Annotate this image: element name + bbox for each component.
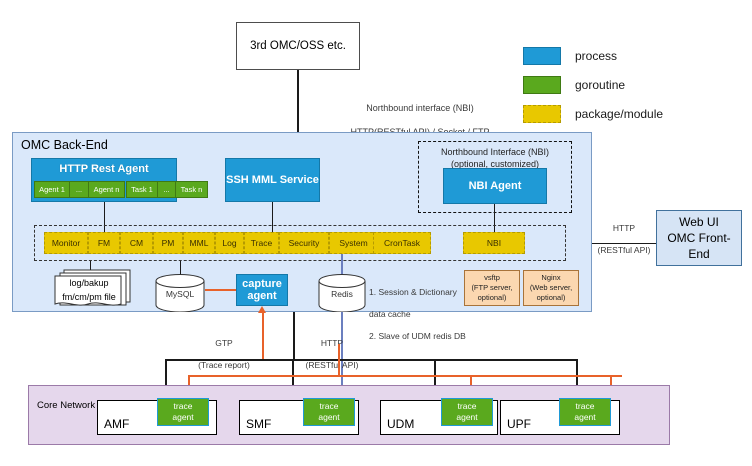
goroutine-task-1: Task 1 (127, 182, 158, 197)
goroutine-task-n: Task n (176, 182, 207, 197)
legend: process goroutine package/module (523, 45, 733, 117)
file-store-line1: log/bakup (46, 276, 132, 290)
nginx-line3: optional) (537, 293, 566, 303)
module-security: Security (279, 232, 329, 254)
module-mml: MML (183, 232, 215, 254)
web-ui-line1: Web UI (679, 214, 719, 230)
module-monitor: Monitor (44, 232, 88, 254)
module-trace: Trace (244, 232, 279, 254)
ssh-mml-service-label: SSH MML Service (226, 174, 319, 186)
gtp-link-label: GTP (Trace report) (190, 327, 258, 382)
trace-agent-amf: trace agent (157, 398, 209, 426)
nbi-agent-process: NBI Agent (443, 168, 547, 204)
http-line2: (RESTful API) (296, 360, 368, 371)
trace-agent-smf: trace agent (303, 398, 355, 426)
legend-swatch-process (523, 47, 561, 65)
trace-agent-smf-line2: agent (318, 412, 339, 423)
mysql-to-capture-agent-connector (205, 289, 236, 291)
modules-group-core: Monitor FM CM PM MML Log Trace Security … (44, 232, 378, 254)
file-store-stack: log/bakup fm/cm/pm file (52, 266, 138, 312)
module-system: System (329, 232, 378, 254)
web-ui-line2: OMC Front-End (657, 230, 741, 262)
capture-agent-inbound-arrow (258, 306, 266, 313)
mysql-label: MySQL (155, 289, 205, 299)
redis-note-line3: 2. Slave of UDM redis DB (369, 331, 489, 342)
oss-to-backend-connector (297, 70, 299, 132)
module-cm: CM (120, 232, 153, 254)
http-trunk-vertical (293, 312, 295, 359)
legend-swatch-module (523, 105, 561, 123)
http-rest-agent-task-group: Task 1 ... Task n (126, 181, 208, 198)
legend-label-module: package/module (575, 107, 663, 121)
gtp-line1: GTP (190, 338, 258, 349)
core-network-title: Core Network (37, 400, 95, 411)
nf-label-smf: SMF (246, 417, 271, 431)
gtp-line2: (Trace report) (190, 360, 258, 371)
architecture-diagram: 3rd OMC/OSS etc. Northbound interface (N… (0, 0, 752, 466)
trace-agent-upf-line1: trace (576, 401, 595, 412)
module-pm: PM (153, 232, 183, 254)
trace-agent-udm-line1: trace (458, 401, 477, 412)
gtp-drop-smf (338, 344, 340, 375)
module-crontask: CronTask (373, 232, 431, 254)
http-link-label: HTTP (RESTful API) (296, 327, 368, 382)
nf-label-upf: UPF (507, 417, 531, 431)
goroutine-agent-1: Agent 1 (35, 182, 70, 197)
vsftp-line2: (FTP server, (471, 283, 512, 293)
module-nbi: NBI (463, 232, 525, 254)
trace-agent-upf: trace agent (559, 398, 611, 426)
file-store-line2: fm/cm/pm file (46, 290, 132, 304)
trace-agent-amf-line2: agent (172, 412, 193, 423)
modules-to-redis-connector (341, 254, 343, 276)
third-party-omc-oss-box: 3rd OMC/OSS etc. (236, 22, 360, 70)
nbi-agent-label: NBI Agent (469, 180, 522, 192)
http-bus-horizontal (165, 359, 577, 361)
third-party-omc-oss-label: 3rd OMC/OSS etc. (250, 40, 346, 52)
goroutine-agent-ellipsis: ... (70, 182, 89, 197)
gtp-trunk-vertical (262, 312, 264, 360)
nbi-frame-caption: Northbound Interface (NBI) (optional, cu… (419, 146, 571, 170)
vsftp-line3: optional) (478, 293, 507, 303)
trace-agent-smf-line1: trace (320, 401, 339, 412)
redis-database: Redis (318, 274, 366, 312)
nf-label-udm: UDM (387, 417, 414, 431)
ssh-mml-service-process: SSH MML Service (225, 158, 320, 202)
web-ui-frontend-box: Web UI OMC Front-End (656, 210, 742, 266)
frontend-link-line1: HTTP (592, 223, 656, 234)
trace-agent-udm: trace agent (441, 398, 493, 426)
mysql-database: MySQL (155, 274, 205, 312)
vsftp-name: vsftp (484, 273, 500, 283)
nbi-link-line1: Northbound interface (NBI) (300, 102, 540, 114)
legend-label-goroutine: goroutine (575, 78, 625, 92)
goroutine-task-ellipsis: ... (158, 182, 176, 197)
module-log: Log (215, 232, 244, 254)
trace-agent-udm-line2: agent (456, 412, 477, 423)
nginx-line2: (Web server, (530, 283, 572, 293)
http-rest-agent-title: HTTP Rest Agent (32, 159, 176, 175)
file-store-label: log/bakup fm/cm/pm file (46, 276, 132, 304)
capture-agent-line2: agent (247, 290, 276, 302)
redis-note-line2: data cache (369, 309, 489, 320)
legend-label-process: process (575, 49, 617, 63)
legend-swatch-goroutine (523, 76, 561, 94)
gtp-bus-horizontal (188, 375, 622, 377)
module-fm: FM (88, 232, 120, 254)
trace-agent-upf-line2: agent (574, 412, 595, 423)
vsftp-server-box: vsftp (FTP server, optional) (464, 270, 520, 306)
modules-to-mysql-connector (180, 261, 181, 275)
redis-label: Redis (318, 289, 366, 299)
nbi-frame-line1: Northbound Interface (NBI) (419, 146, 571, 158)
trace-agent-amf-line1: trace (174, 401, 193, 412)
capture-agent-line1: capture (242, 278, 282, 290)
nginx-name: Nginx (541, 273, 560, 283)
frontend-link-label: HTTP (RESTful API) (592, 212, 656, 267)
capture-agent-process: capture agent (236, 274, 288, 306)
nf-label-amf: AMF (104, 417, 129, 431)
frontend-link-line2: (RESTful API) (592, 245, 656, 256)
http-rest-agent-goroutine-group: Agent 1 ... Agent n (34, 181, 125, 198)
omc-backend-title: OMC Back-End (21, 138, 108, 152)
http-line1: HTTP (296, 338, 368, 349)
nginx-server-box: Nginx (Web server, optional) (523, 270, 579, 306)
goroutine-agent-n: Agent n (89, 182, 124, 197)
